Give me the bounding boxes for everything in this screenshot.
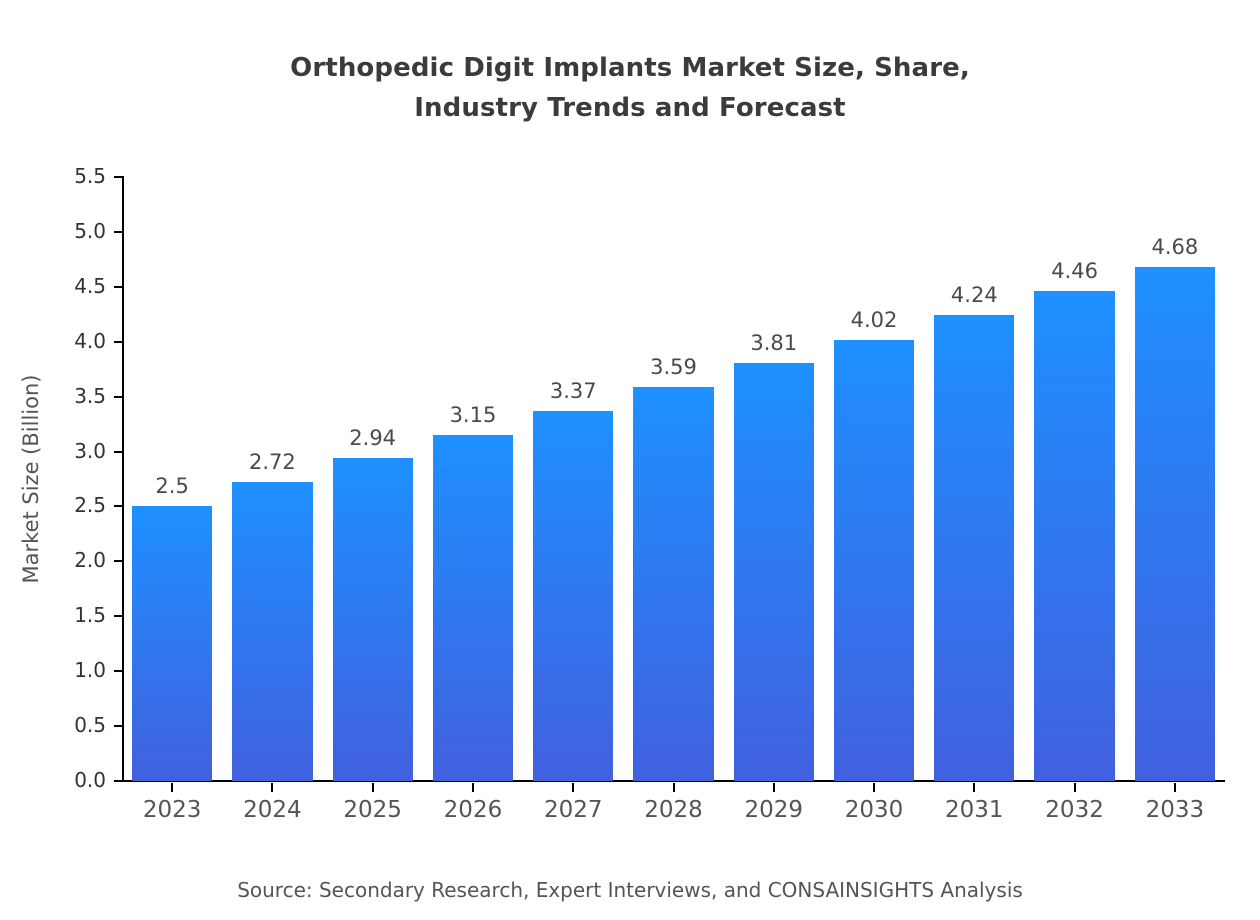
bar-value-label: 4.46 xyxy=(1004,259,1144,283)
bar[interactable]: 2.94 xyxy=(333,458,413,781)
x-tick-label: 2026 xyxy=(423,797,523,823)
bar[interactable]: 3.59 xyxy=(633,387,713,781)
bar-value-label: 3.37 xyxy=(503,379,643,403)
source-note: Source: Secondary Research, Expert Inter… xyxy=(0,878,1260,902)
chart-title-line-2: Industry Trends and Forecast xyxy=(0,88,1260,128)
bar-fill xyxy=(433,435,513,781)
y-tick-label: 3.5 xyxy=(36,384,106,408)
y-tick-label: 4.5 xyxy=(36,274,106,298)
x-tick-label: 2024 xyxy=(222,797,322,823)
x-tick-label: 2030 xyxy=(824,797,924,823)
y-tick-label: 0.0 xyxy=(36,768,106,792)
x-tick-label: 2027 xyxy=(523,797,623,823)
plot-area: 0.00.51.01.52.02.53.03.54.04.55.05.5 202… xyxy=(122,177,1225,781)
chart-title: Orthopedic Digit Implants Market Size, S… xyxy=(0,48,1260,128)
bar-fill xyxy=(1034,291,1114,781)
y-tick-label: 5.5 xyxy=(36,164,106,188)
bar[interactable]: 4.46 xyxy=(1034,291,1114,781)
bar[interactable]: 4.24 xyxy=(934,315,1014,781)
bar[interactable]: 2.72 xyxy=(232,482,312,781)
bar-fill xyxy=(232,482,312,781)
x-tick-mark xyxy=(1174,783,1176,792)
bar[interactable]: 4.68 xyxy=(1135,267,1215,781)
x-tick-label: 2033 xyxy=(1125,797,1225,823)
bar-fill xyxy=(734,363,814,781)
bar-value-label: 3.81 xyxy=(704,331,844,355)
x-tick-label: 2028 xyxy=(624,797,724,823)
y-tick-mark xyxy=(114,725,122,727)
bar-fill xyxy=(934,315,1014,781)
y-axis-title: Market Size (Billion) xyxy=(14,177,48,781)
bar[interactable]: 4.02 xyxy=(834,340,914,781)
x-tick-mark xyxy=(271,783,273,792)
x-tick-mark xyxy=(1074,783,1076,792)
bar[interactable]: 3.37 xyxy=(533,411,613,781)
chart-title-line-1: Orthopedic Digit Implants Market Size, S… xyxy=(0,48,1260,88)
x-tick-mark xyxy=(673,783,675,792)
y-tick-label: 1.0 xyxy=(36,658,106,682)
x-tick-mark xyxy=(372,783,374,792)
bar[interactable]: 2.5 xyxy=(132,506,212,781)
y-tick-label: 4.0 xyxy=(36,329,106,353)
y-tick-mark xyxy=(114,396,122,398)
y-tick-mark xyxy=(114,176,122,178)
x-tick-label: 2023 xyxy=(122,797,222,823)
x-tick-mark xyxy=(973,783,975,792)
y-tick-mark xyxy=(114,670,122,672)
bar[interactable]: 3.15 xyxy=(433,435,513,781)
x-tick-label: 2025 xyxy=(323,797,423,823)
bar-value-label: 4.24 xyxy=(904,283,1044,307)
y-tick-label: 2.0 xyxy=(36,548,106,572)
bar-value-label: 4.02 xyxy=(804,308,944,332)
x-tick-mark xyxy=(171,783,173,792)
y-tick-mark xyxy=(114,615,122,617)
y-tick-label: 2.5 xyxy=(36,493,106,517)
y-tick-mark xyxy=(114,341,122,343)
bar-fill xyxy=(834,340,914,781)
y-tick-label: 3.0 xyxy=(36,439,106,463)
x-tick-mark xyxy=(572,783,574,792)
x-tick-label: 2032 xyxy=(1025,797,1125,823)
y-tick-mark xyxy=(114,780,122,782)
bar-value-label: 3.15 xyxy=(403,403,543,427)
bar-value-label: 4.68 xyxy=(1105,235,1245,259)
y-tick-mark xyxy=(114,560,122,562)
bar-value-label: 2.94 xyxy=(303,426,443,450)
x-tick-label: 2031 xyxy=(924,797,1024,823)
y-tick-mark xyxy=(114,231,122,233)
x-tick-mark xyxy=(873,783,875,792)
y-tick-mark xyxy=(114,286,122,288)
bar-fill xyxy=(333,458,413,781)
bar-fill xyxy=(132,506,212,781)
y-tick-mark xyxy=(114,451,122,453)
bar-fill xyxy=(1135,267,1215,781)
y-tick-mark xyxy=(114,505,122,507)
y-tick-label: 1.5 xyxy=(36,603,106,627)
y-tick-label: 5.0 xyxy=(36,219,106,243)
x-tick-mark xyxy=(773,783,775,792)
bar-value-label: 3.59 xyxy=(603,355,743,379)
bar-value-label: 2.72 xyxy=(202,450,342,474)
y-tick-label: 0.5 xyxy=(36,713,106,737)
bar-value-label: 2.5 xyxy=(102,474,242,498)
bar[interactable]: 3.81 xyxy=(734,363,814,781)
bar-fill xyxy=(533,411,613,781)
bar-fill xyxy=(633,387,713,781)
x-tick-mark xyxy=(472,783,474,792)
x-tick-label: 2029 xyxy=(724,797,824,823)
